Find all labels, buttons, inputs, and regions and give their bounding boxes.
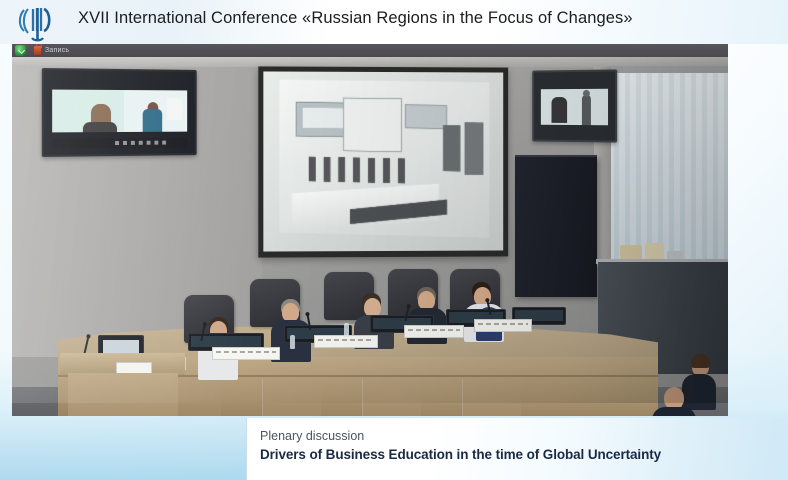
caption-left-edge: [246, 418, 247, 480]
conference-emblem-icon: [17, 4, 59, 42]
session-title: Drivers of Business Education in the tim…: [260, 447, 661, 462]
presentation-slide: XVII International Conference «Russian R…: [0, 0, 788, 480]
recording-status-bar: Запись: [12, 44, 728, 57]
session-kicker: Plenary discussion: [260, 429, 364, 443]
green-shield-icon: [15, 45, 26, 56]
room-lighting-overlay: [12, 44, 728, 403]
foreground-attendee-body: [652, 407, 696, 416]
recording-label: Запись: [45, 45, 69, 56]
page-title: XVII International Conference «Russian R…: [78, 9, 780, 28]
session-caption: Plenary discussion Drivers of Business E…: [246, 418, 788, 480]
slide-header: XVII International Conference «Russian R…: [0, 0, 788, 44]
orange-lock-icon: [34, 46, 41, 55]
conference-video-feed[interactable]: Запись: [12, 44, 728, 416]
